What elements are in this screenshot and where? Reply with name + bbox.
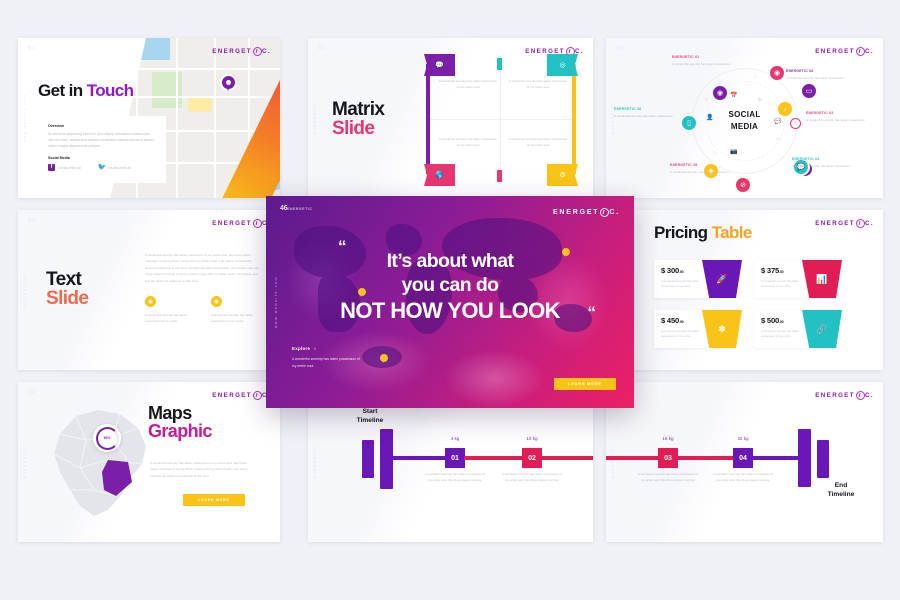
plus-icon: ⊕ bbox=[704, 96, 709, 103]
side-label: ENERGETIC bbox=[23, 274, 27, 306]
price-cents-2: .00 bbox=[779, 270, 783, 274]
label-05-heading: ENERGETIC 05 bbox=[670, 162, 742, 168]
timeline-track-2 bbox=[464, 456, 524, 460]
mobile-icon: ▯ bbox=[687, 119, 691, 127]
node-desc-03: A wonderful serenity has taken possessio… bbox=[637, 472, 699, 483]
node-nosignal[interactable]: ⊘ bbox=[736, 178, 750, 192]
timeline-end-caption: End Timeline bbox=[813, 482, 869, 500]
quote-line-2: you can do bbox=[266, 274, 634, 297]
label-04-body: A wonderful serenity has taken possessio… bbox=[792, 164, 850, 168]
feature-text-1: A wonderful serenity has taken possessio… bbox=[145, 312, 197, 324]
title-part-2: Graphic bbox=[148, 422, 212, 440]
timeline-node-03[interactable]: 03 bbox=[658, 448, 678, 468]
price-desc-3: A wonderful serenity has taken possessio… bbox=[661, 329, 707, 340]
brand-logo: ENERGETC. bbox=[553, 208, 620, 217]
caption-line-1: End bbox=[813, 482, 869, 491]
contact-card: Overview Ut wisi enim adipisicing eiusmo… bbox=[38, 116, 166, 183]
social-link-twitter[interactable]: 🐦 /ut-wisi-enim-ad bbox=[99, 164, 132, 171]
title-part-1: Get in bbox=[38, 81, 87, 100]
page-title: Get in Touch bbox=[38, 82, 133, 99]
node-camera[interactable]: ◉ bbox=[770, 66, 784, 80]
node-number-03: 03 bbox=[664, 455, 672, 462]
label-01: ENERGETIC 01 A wonderful serenity has ta… bbox=[672, 54, 744, 68]
logo-circle-icon bbox=[856, 391, 865, 400]
logo-circle-icon bbox=[253, 47, 262, 56]
pricing-card-1[interactable]: 🚀 $ 300.00 A wonderful serenity has take… bbox=[654, 260, 742, 298]
twitter-handle: /ut-wisi-enim-ad bbox=[109, 166, 132, 170]
label-01-body: A wonderful serenity has taken possessio… bbox=[672, 62, 730, 66]
map-pin-icon-3 bbox=[380, 354, 388, 362]
timeline-track-4 bbox=[677, 456, 735, 460]
timeline-track-0 bbox=[606, 456, 660, 460]
learn-more-button[interactable]: LEARN MORE bbox=[554, 378, 616, 390]
quote-line-3: NOT HOW YOU LOOK bbox=[266, 298, 634, 324]
caption-line-2: Timeline bbox=[813, 491, 869, 500]
slide-number: 63 bbox=[28, 46, 36, 52]
page-title: Maps Graphic bbox=[148, 404, 212, 441]
slide-pricing-table[interactable]: 49 ENERGETIC ENERGETC. Pricing Table 🚀 $… bbox=[606, 210, 883, 370]
side-label: ENERGETIC bbox=[313, 446, 317, 478]
node-pin[interactable]: ◉ bbox=[713, 86, 727, 100]
quote-line-1: It’s about what bbox=[266, 250, 634, 273]
slide-text[interactable]: 52 ENERGETIC ENERGETC. Text Slide A wond… bbox=[18, 210, 280, 370]
heart-outline-icon: ♡ bbox=[758, 156, 763, 163]
brand-logo: ENERGETC. bbox=[815, 47, 874, 56]
percent-value: 60% bbox=[104, 436, 111, 440]
facebook-icon: f bbox=[48, 164, 55, 171]
camera-icon: 📷 bbox=[730, 148, 737, 155]
divider-tab-top bbox=[497, 58, 502, 70]
map-pin-icon-1 bbox=[358, 288, 366, 296]
twitter-icon: 🐦 bbox=[99, 164, 106, 171]
price-cents-4: .00 bbox=[779, 320, 783, 324]
body-paragraph: A wonderful serenity has taken possessio… bbox=[150, 460, 254, 479]
heart-icon: ♡ bbox=[793, 121, 797, 127]
label-02-body: A wonderful serenity has taken possessio… bbox=[786, 76, 844, 80]
sound-icon: ♪ bbox=[783, 106, 787, 113]
speech-icon: 💬 bbox=[774, 118, 781, 125]
node-tv[interactable]: ▭ bbox=[802, 84, 816, 98]
slide-get-in-touch[interactable]: 63 www.website.com ENERGETC. Get in Touc… bbox=[18, 38, 280, 198]
price-1: $ 300.00 bbox=[661, 266, 683, 275]
matrix-cell-4: A wonderful serenity has taken possessio… bbox=[508, 136, 568, 148]
presentation-icon: 📊 bbox=[816, 274, 827, 285]
divider-tab-bottom bbox=[497, 170, 502, 182]
slide-matrix[interactable]: 60 ENERGETIC ENERGETC. Matrix Slide 💬 ◎ … bbox=[308, 38, 593, 198]
label-04-heading: ENERGETIC 04 bbox=[792, 156, 864, 162]
diagram-title-line1: SOCIAL bbox=[728, 109, 760, 121]
brand-logo: ENERGETC. bbox=[815, 219, 874, 228]
price-4: $ 500.00 bbox=[761, 316, 783, 325]
diagram-title-line2: MEDIA bbox=[728, 121, 760, 133]
timeline-track-5 bbox=[752, 456, 802, 460]
label-06: ENERGETIC 06 A wonderful serenity has ta… bbox=[614, 106, 686, 120]
pin-icon: ◉ bbox=[717, 89, 723, 97]
matrix-cell-2: A wonderful serenity has taken possessio… bbox=[508, 78, 568, 90]
price-desc-4: A wonderful serenity has taken possessio… bbox=[761, 329, 807, 340]
slide-social-media[interactable]: 56 ENERGETIC ENERGETC. SOCIAL MEDIA ⊕ 📅 … bbox=[606, 38, 883, 198]
page-title: Pricing Table bbox=[654, 224, 752, 241]
node-desc-04: A wonderful serenity has taken possessio… bbox=[712, 472, 774, 483]
title-part-1: Text bbox=[46, 270, 88, 289]
title-part-2: Slide bbox=[46, 289, 88, 308]
slide-number: 44 bbox=[28, 390, 36, 396]
matrix-flag-2[interactable]: ◎ bbox=[547, 54, 578, 76]
no-signal-icon: ⊘ bbox=[740, 181, 746, 189]
logo-circle-icon bbox=[600, 208, 609, 217]
matrix-cell-1: A wonderful serenity has taken possessio… bbox=[438, 78, 498, 90]
tv-icon: ▭ bbox=[806, 87, 813, 95]
weight-label-02: 10 kg bbox=[515, 436, 549, 441]
map-pin-icon bbox=[222, 76, 235, 89]
price-3: $ 450.00 bbox=[661, 316, 683, 325]
page-title: Text Slide bbox=[46, 270, 88, 309]
label-03-body: A wonderful serenity has taken possessio… bbox=[806, 118, 864, 122]
node-number-02: 02 bbox=[528, 455, 536, 462]
node-desc-01: A wonderful serenity has taken possessio… bbox=[424, 472, 486, 483]
slide-number: 52 bbox=[28, 218, 36, 224]
title-part-1: Maps bbox=[148, 404, 212, 422]
timeline-track-3 bbox=[541, 456, 593, 460]
calendar-icon: 📅 bbox=[730, 92, 737, 99]
heart-icon: ♡ bbox=[698, 132, 703, 139]
globe-icon: 🌎 bbox=[435, 171, 444, 179]
progress-donut: 60% bbox=[93, 424, 121, 452]
matrix-cell-3: A wonderful serenity has taken possessio… bbox=[438, 136, 498, 148]
camera-icon: ◉ bbox=[774, 69, 780, 77]
gear-icon: ⚙ bbox=[559, 171, 565, 179]
price-desc-2: A wonderful serenity has taken possessio… bbox=[761, 279, 807, 290]
brand-logo: ENERGETC. bbox=[815, 391, 874, 400]
node-sound[interactable]: ♪ bbox=[778, 102, 792, 116]
timeline-node-02[interactable]: 02 bbox=[522, 448, 542, 468]
chat-icon: 💬 bbox=[435, 61, 444, 69]
social-media-label: Social Media bbox=[48, 156, 156, 160]
overview-body: Ut wisi enim adipisicing eiusmod, quis a… bbox=[48, 131, 156, 149]
user-circle-icon: 👤 bbox=[706, 114, 713, 121]
caption-line-2: Timeline bbox=[342, 417, 398, 426]
matrix-flag-1[interactable]: 💬 bbox=[424, 54, 455, 76]
price-desc-1: A wonderful serenity has taken possessio… bbox=[661, 279, 707, 290]
chevron-right-icon: › bbox=[314, 346, 316, 351]
dumbbell-plate-1 bbox=[362, 440, 374, 478]
timeline-track-1 bbox=[392, 456, 448, 460]
explore-block[interactable]: Explore› A wonderful serenity has taken … bbox=[292, 346, 362, 369]
share-icon: ↗ bbox=[752, 74, 757, 81]
social-link-facebook[interactable]: f /ut-wisi-enim-ad bbox=[48, 164, 81, 171]
label-04: ENERGETIC 04 A wonderful serenity has ta… bbox=[792, 156, 864, 170]
feature-column-2: ◉ A wonderful serenity has taken possess… bbox=[211, 296, 263, 324]
feature-column-1: ◉ A wonderful serenity has taken possess… bbox=[145, 296, 197, 324]
side-label: ENERGETIC bbox=[313, 102, 317, 134]
price-2: $ 375.00 bbox=[761, 266, 783, 275]
coin-icon: ◉ bbox=[145, 296, 156, 307]
matrix-flag-4[interactable]: ⚙ bbox=[547, 164, 578, 186]
brush-icon: ✽ bbox=[718, 324, 726, 335]
country-map-shape bbox=[46, 398, 156, 526]
node-number-04: 04 bbox=[739, 455, 747, 462]
title-part-1: Matrix bbox=[332, 100, 384, 119]
logo-circle-icon bbox=[253, 219, 262, 228]
price-cents-1: .00 bbox=[679, 270, 683, 274]
node-heart-small[interactable]: ♡ bbox=[790, 118, 801, 129]
label-06-heading: ENERGETIC 06 bbox=[614, 106, 686, 112]
brand-logo: ENERGETC. bbox=[212, 47, 271, 56]
coin-icon: ◉ bbox=[211, 296, 222, 307]
label-02: ENERGETIC 02 A wonderful serenity has ta… bbox=[786, 68, 858, 82]
weight-label-01: 4 kg bbox=[438, 436, 472, 441]
timeline-node-04[interactable]: 04 bbox=[733, 448, 753, 468]
play-icon: ▶ bbox=[758, 96, 763, 103]
badge-subtitle: ENERGETIC bbox=[287, 207, 312, 211]
page-title: Matrix Slide bbox=[332, 100, 384, 139]
feature-text-2: A wonderful serenity has taken possessio… bbox=[211, 312, 263, 324]
timeline-start-caption: Start Timeline bbox=[342, 408, 398, 426]
title-part-2: Touch bbox=[87, 81, 134, 100]
slide-timeline-end[interactable]: 40 ENERGETIC ENERGETC. 03 16 kg A wonder… bbox=[606, 382, 883, 542]
label-06-body: A wonderful serenity has taken possessio… bbox=[614, 114, 672, 118]
pricing-card-4[interactable]: 🔗 $ 500.00 A wonderful serenity has take… bbox=[754, 310, 842, 348]
mail-icon: ✉ bbox=[776, 136, 781, 143]
price-cents-3: .00 bbox=[679, 320, 683, 324]
side-label: www.website.com bbox=[23, 94, 27, 142]
pricing-card-2[interactable]: 📊 $ 375.00 A wonderful serenity has take… bbox=[754, 260, 842, 298]
diagram-title: SOCIAL MEDIA bbox=[728, 109, 760, 133]
explore-body: A wonderful serenity has taken possessio… bbox=[292, 356, 362, 369]
matrix-flag-3[interactable]: 🌎 bbox=[424, 164, 455, 186]
slide-number: 60 bbox=[318, 46, 326, 52]
logo-circle-icon bbox=[856, 47, 865, 56]
title-part-2: Table bbox=[712, 223, 752, 242]
side-label: ENERGETIC bbox=[23, 446, 27, 478]
node-number-01: 01 bbox=[451, 455, 459, 462]
logo-circle-icon bbox=[856, 219, 865, 228]
title-part-2: Slide bbox=[332, 119, 384, 138]
brand-logo: ENERGETC. bbox=[212, 391, 271, 400]
label-03-heading: ENERGETIC 03 bbox=[806, 110, 878, 116]
weight-label-03: 16 kg bbox=[651, 436, 685, 441]
node-desc-02: A wonderful serenity has taken possessio… bbox=[501, 472, 563, 483]
timeline-node-01[interactable]: 01 bbox=[445, 448, 465, 468]
overview-label: Overview bbox=[48, 124, 156, 128]
label-05: ENERGETIC 05 A wonderful serenity has ta… bbox=[670, 162, 742, 176]
matrix-quadrants: 💬 ◎ 🌎 ⚙ A wonderful serenity has taken p… bbox=[426, 56, 576, 184]
label-03: ENERGETIC 03 A wonderful serenity has ta… bbox=[806, 110, 878, 124]
dumbbell-plate-3 bbox=[798, 429, 811, 487]
featured-slide[interactable]: 46ENERGETIC www.website.com ENERGETC. “ … bbox=[266, 196, 634, 408]
rocket-icon: 🚀 bbox=[716, 274, 727, 285]
slide-deck-grid: 63 www.website.com ENERGETC. Get in Touc… bbox=[0, 0, 900, 600]
slide-badge: 46ENERGETIC bbox=[280, 205, 312, 212]
side-label: ENERGETIC bbox=[611, 446, 615, 478]
caption-line-1: Start bbox=[342, 408, 398, 417]
logo-circle-icon bbox=[253, 391, 262, 400]
slide-number: 56 bbox=[616, 46, 624, 52]
link-icon: 🔗 bbox=[816, 324, 827, 335]
label-01-heading: ENERGETIC 01 bbox=[672, 54, 744, 60]
map-pin-icon-2 bbox=[562, 248, 570, 256]
slide-maps-graphic[interactable]: 44 ENERGETIC ENERGETC. 60% Maps Graphic … bbox=[18, 382, 280, 542]
refresh-icon: ⟳ bbox=[712, 150, 717, 157]
explore-label: Explore bbox=[292, 346, 310, 351]
dumbbell-plate-4 bbox=[817, 440, 829, 478]
target-icon: ◎ bbox=[559, 61, 565, 69]
learn-more-button[interactable]: LEARN MORE bbox=[183, 494, 245, 506]
weight-label-04: 32 kg bbox=[726, 436, 760, 441]
feature-columns: ◉ A wonderful serenity has taken possess… bbox=[145, 296, 263, 324]
label-02-heading: ENERGETIC 02 bbox=[786, 68, 858, 74]
label-05-body: A wonderful serenity has taken possessio… bbox=[670, 170, 728, 174]
pricing-card-3[interactable]: ✽ $ 450.00 A wonderful serenity has take… bbox=[654, 310, 742, 348]
body-paragraph: A wonderful serenity has taken possessio… bbox=[145, 252, 260, 284]
brand-logo: ENERGETC. bbox=[212, 219, 271, 228]
title-part-1: Pricing bbox=[654, 223, 712, 242]
facebook-handle: /ut-wisi-enim-ad bbox=[58, 166, 81, 170]
